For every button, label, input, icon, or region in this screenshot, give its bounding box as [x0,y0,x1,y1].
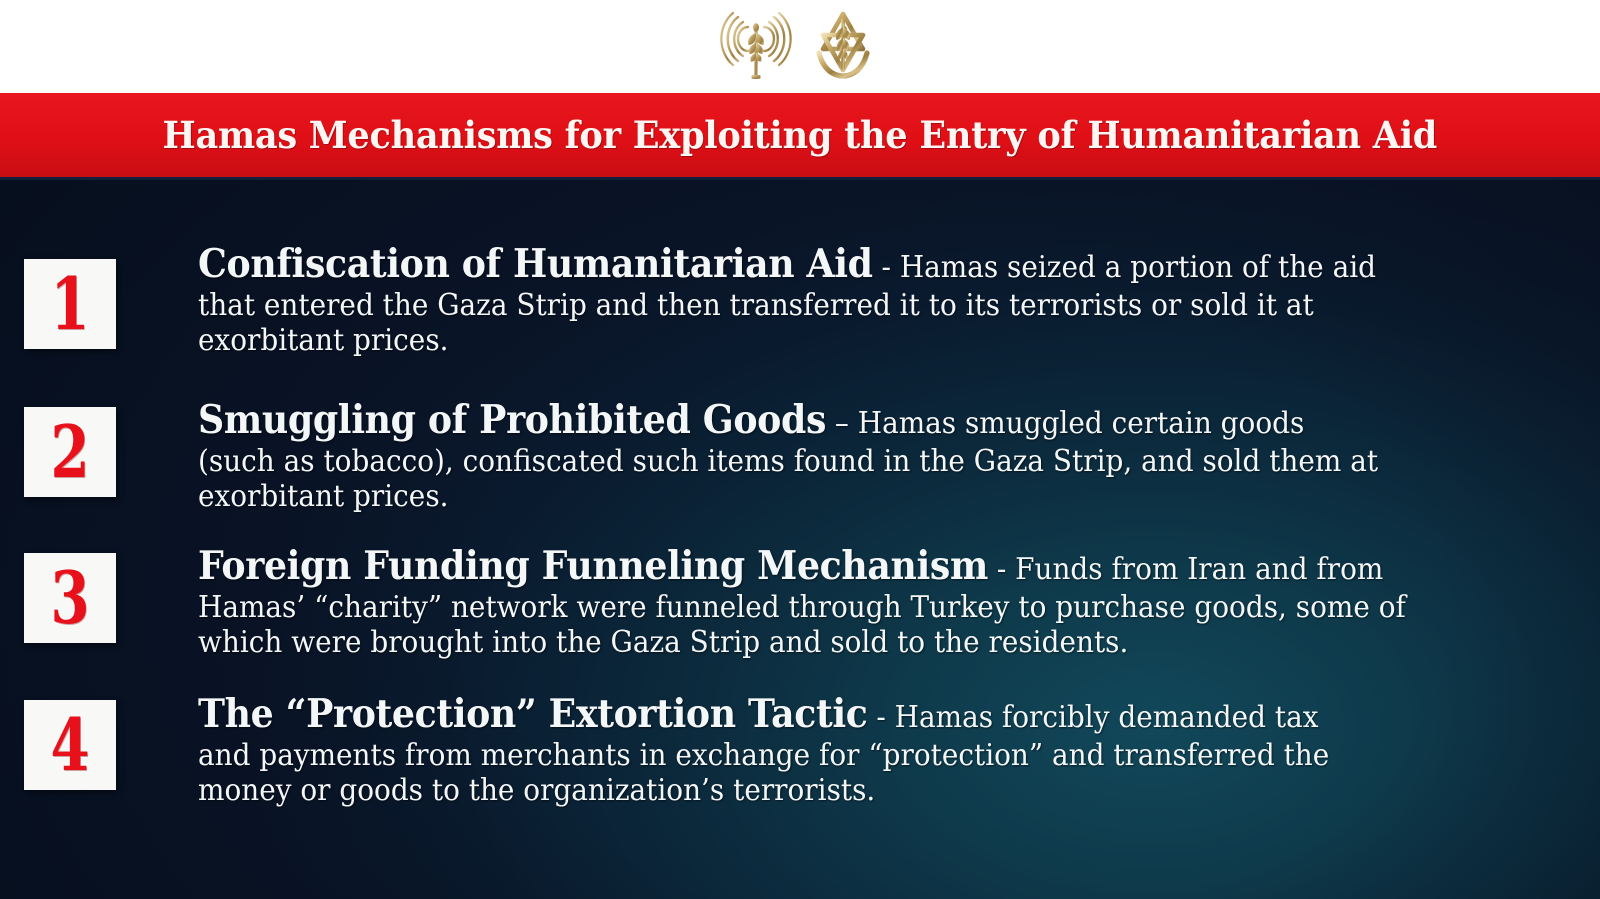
page-title: Hamas Mechanisms for Exploiting the Entr… [163,113,1438,157]
item-number-badge: 3 [24,553,116,643]
item-text: Confiscation of Humanitarian Aid - Hamas… [198,242,1498,358]
item-number: 4 [50,709,89,781]
item-number: 3 [50,562,89,634]
infographic-page: Hamas Mechanisms for Exploiting the Entr… [0,0,1600,899]
item-lede: Foreign Funding Funneling Mechanism [198,543,988,589]
item-separator: - [867,700,894,735]
item-separator: - [988,552,1015,587]
mechanism-list: 1 Confiscation of Humanitarian Aid - Ham… [0,180,1600,899]
item-lede: Smuggling of Prohibited Goods [198,397,826,443]
idf-insignia-emblem [806,7,880,86]
header-emblem-strip [0,0,1600,93]
item-separator: - [873,250,900,285]
item-text: The “Protection” Extortion Tactic - Hama… [198,692,1458,808]
item-paragraph: Confiscation of Humanitarian Aid - Hamas… [198,242,1407,358]
item-lede: The “Protection” Extortion Tactic [198,691,867,737]
item-paragraph: Smuggling of Prohibited Goods – Hamas sm… [198,398,1379,514]
item-number: 2 [50,416,89,488]
content-body: 1 Confiscation of Humanitarian Aid - Ham… [0,180,1600,899]
item-paragraph: The “Protection” Extortion Tactic - Hama… [198,692,1370,808]
item-text: Smuggling of Prohibited Goods – Hamas sm… [198,398,1468,514]
item-number: 1 [50,268,89,340]
item-separator: – [826,406,858,441]
title-banner: Hamas Mechanisms for Exploiting the Entr… [0,93,1600,180]
item-number-badge: 1 [24,259,116,349]
item-paragraph: Foreign Funding Funneling Mechanism - Fu… [198,544,1426,660]
item-lede: Confiscation of Humanitarian Aid [198,241,873,287]
item-number-badge: 4 [24,700,116,790]
idf-spokesperson-emblem [720,7,792,86]
item-number-badge: 2 [24,407,116,497]
item-text: Foreign Funding Funneling Mechanism - Fu… [198,544,1518,660]
